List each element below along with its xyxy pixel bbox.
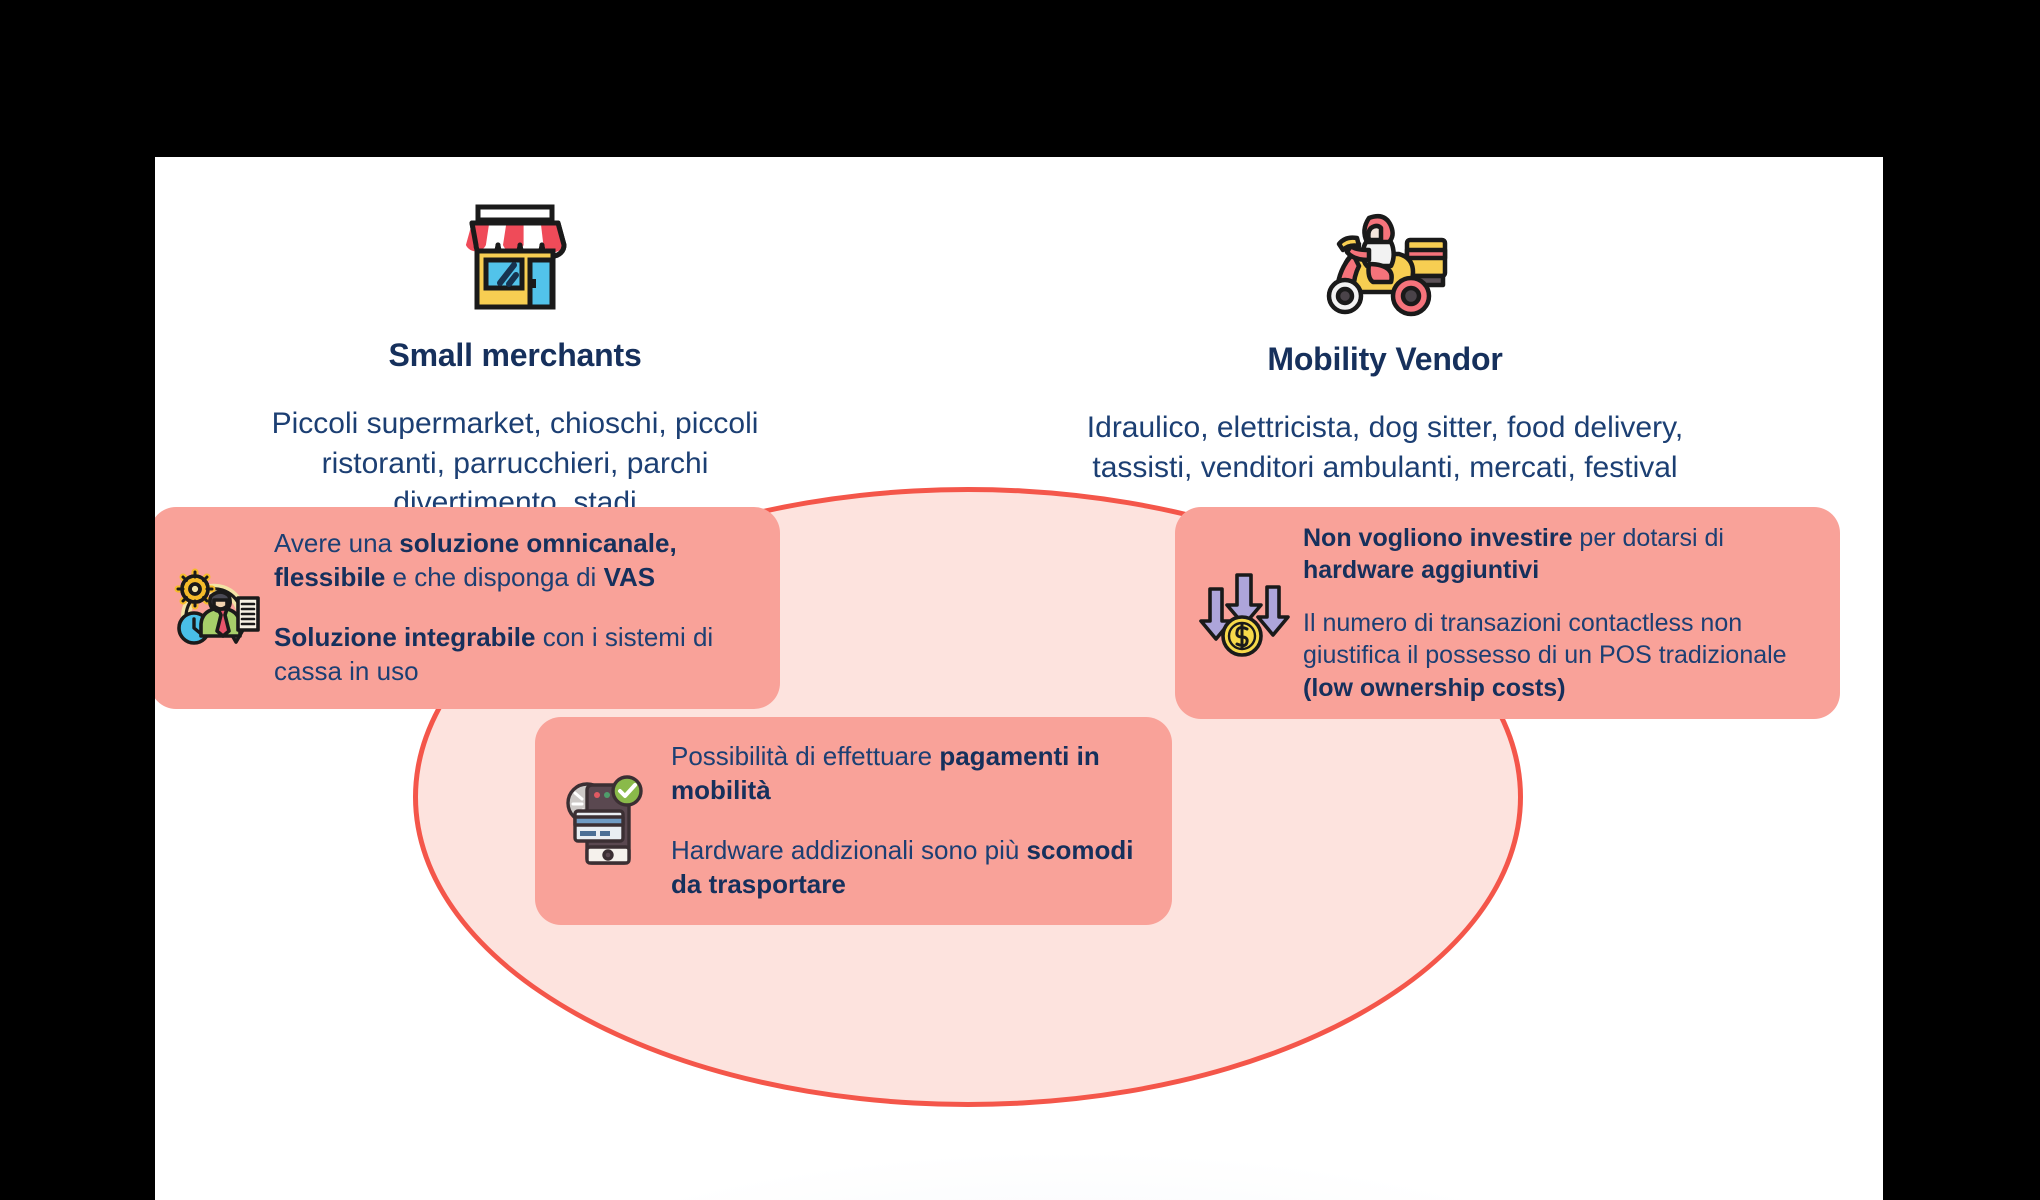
need-paragraph: Non vogliono investire per dotarsi di ha… xyxy=(1303,522,1824,587)
need-card-bottom: Possibilità di effettuare pagamenti in m… xyxy=(535,717,1172,925)
slide-canvas: Small merchants Piccoli supermarket, chi… xyxy=(155,157,1883,1200)
delivery-scooter-icon xyxy=(1055,171,1715,321)
persona-mobility-vendor: Mobility Vendor Idraulico, elettricista,… xyxy=(1055,171,1715,487)
need-text-bottom: Possibilità di effettuare pagamenti in m… xyxy=(671,740,1146,901)
need-paragraph: Il numero di transazioni contactless non… xyxy=(1303,607,1824,705)
need-paragraph: Avere una soluzione omnicanale, flessibi… xyxy=(274,527,758,595)
need-text-right: Non vogliono investire per dotarsi di ha… xyxy=(1303,522,1824,705)
persona-description: Piccoli supermarket, chioschi, piccoli r… xyxy=(185,404,845,523)
need-card-left: Avere una soluzione omnicanale, flessibi… xyxy=(155,507,780,709)
need-paragraph: Possibilità di effettuare pagamenti in m… xyxy=(671,740,1146,808)
persona-description: Idraulico, elettricista, dog sitter, foo… xyxy=(1055,408,1715,487)
storefront-icon xyxy=(185,167,845,317)
mobile-card-payment-icon xyxy=(561,773,645,869)
persona-title: Mobility Vendor xyxy=(1055,341,1715,378)
cost-down-arrows-coin-icon xyxy=(1197,567,1293,659)
need-paragraph: Hardware addizionali sono più scomodi da… xyxy=(671,834,1146,902)
persona-title: Small merchants xyxy=(185,337,845,374)
process-integration-icon xyxy=(168,562,260,654)
need-paragraph: Soluzione integrabile con i sistemi di c… xyxy=(274,621,758,689)
need-text-left: Avere una soluzione omnicanale, flessibi… xyxy=(274,527,758,688)
need-card-right: Non vogliono investire per dotarsi di ha… xyxy=(1175,507,1840,719)
persona-small-merchants: Small merchants Piccoli supermarket, chi… xyxy=(185,167,845,523)
